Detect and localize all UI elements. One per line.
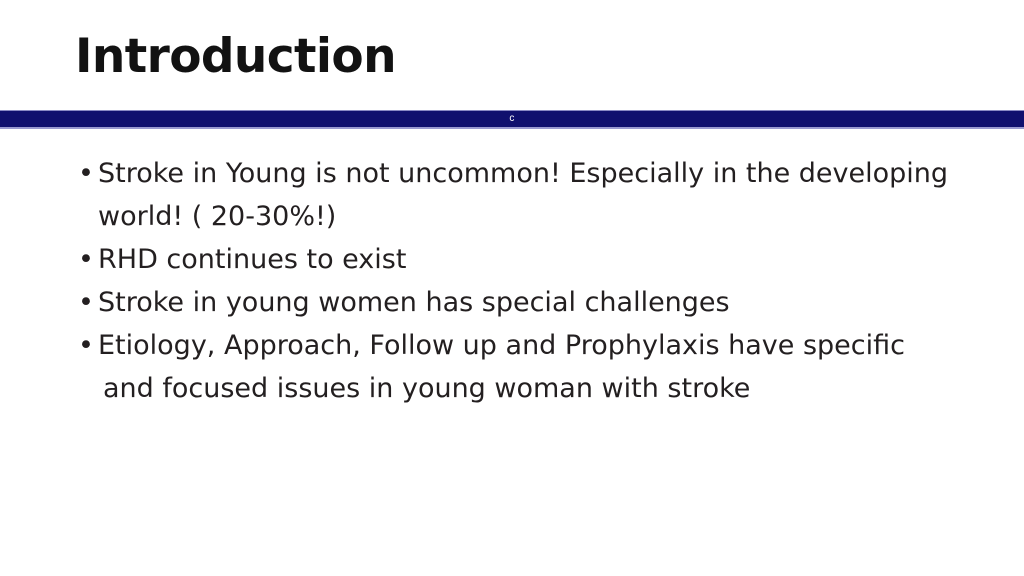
list-item: • Stroke in young women has special chal… <box>72 281 972 324</box>
bullet-line: and focused issues in young woman with s… <box>98 367 972 410</box>
page-title: Introduction <box>75 28 975 86</box>
bullet-icon: • <box>78 152 92 195</box>
bullet-icon: • <box>78 281 92 324</box>
bullet-icon: • <box>78 324 92 367</box>
bullet-line: Stroke in young women has special challe… <box>98 281 972 324</box>
title-divider-bar: c <box>0 110 1024 129</box>
bullet-list: • Stroke in Young is not uncommon! Espec… <box>72 152 972 410</box>
list-item: • Stroke in Young is not uncommon! Espec… <box>72 152 972 238</box>
bullet-line: world! ( 20-30%!) <box>98 195 972 238</box>
bullet-line: Stroke in Young is not uncommon! Especia… <box>98 152 972 195</box>
list-item: • Etiology, Approach, Follow up and Prop… <box>72 324 972 410</box>
bullet-line: Etiology, Approach, Follow up and Prophy… <box>98 324 972 367</box>
list-item: • RHD continues to exist <box>72 238 972 281</box>
bullet-icon: • <box>78 238 92 281</box>
bullet-line: RHD continues to exist <box>98 238 972 281</box>
divider-bar-label: c <box>0 111 1024 127</box>
presentation-slide: Introduction c • Stroke in Young is not … <box>0 0 1024 576</box>
